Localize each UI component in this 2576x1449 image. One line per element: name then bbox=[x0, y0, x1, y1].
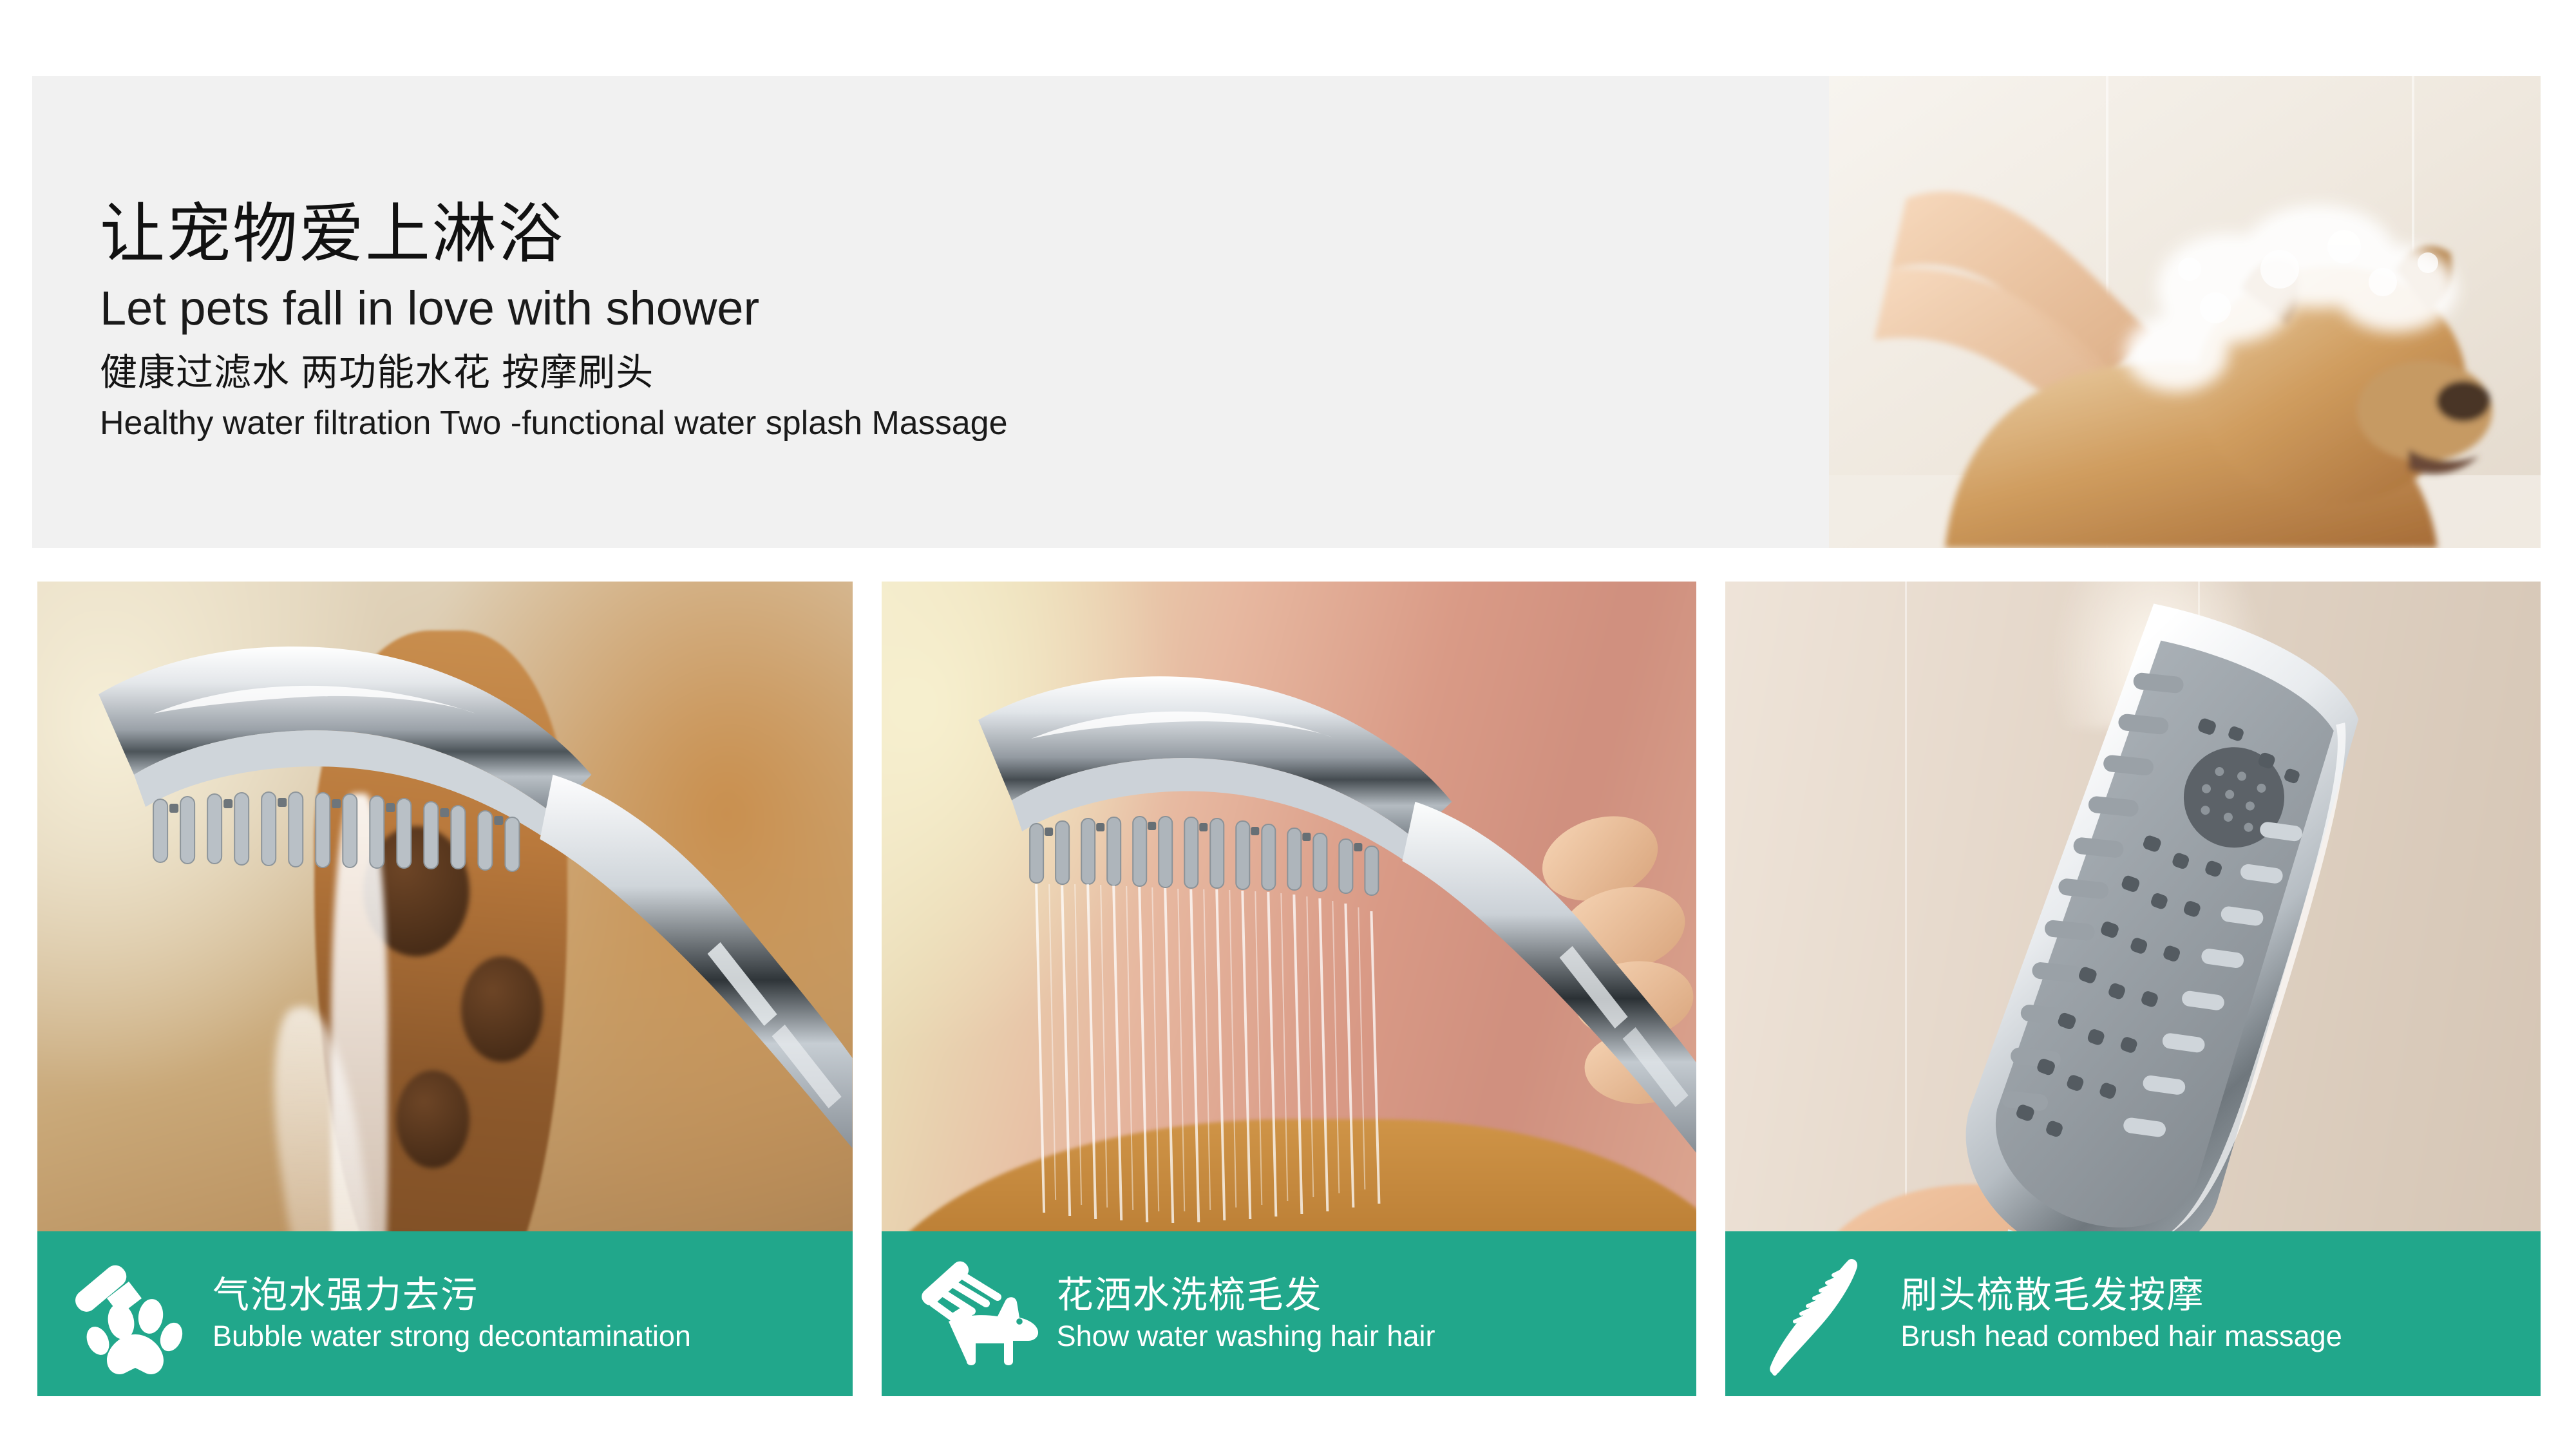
shower-wand-paw-glyph bbox=[68, 1249, 197, 1378]
header-text-block: 让宠物爱上淋浴 Let pets fall in love with showe… bbox=[100, 198, 1356, 443]
panel-caption: 刷头梳散毛发按摩 Brush head combed hair massage bbox=[1725, 1231, 2541, 1396]
dog-spray-glyph bbox=[913, 1249, 1041, 1378]
caption-en: Show water washing hair hair bbox=[1057, 1320, 1435, 1352]
brush-comb-glyph bbox=[1756, 1249, 1885, 1378]
caption-text-block: 刷头梳散毛发按摩 Brush head combed hair massage bbox=[1900, 1273, 2342, 1354]
caption-text-block: 花洒水洗梳毛发 Show water washing hair hair bbox=[1057, 1273, 1435, 1354]
panel-caption: 气泡水强力去污 Bubble water strong decontaminat… bbox=[37, 1231, 853, 1396]
feature-panel[interactable]: 花洒水洗梳毛发 Show water washing hair hair bbox=[882, 582, 1697, 1396]
feature-panel[interactable]: 气泡水强力去污 Bubble water strong decontaminat… bbox=[37, 582, 853, 1396]
header-banner: 让宠物爱上淋浴 Let pets fall in love with showe… bbox=[32, 76, 2541, 548]
page-subtitle-en: Healthy water filtration Two -functional… bbox=[100, 403, 1356, 443]
header-dog-bath-photo bbox=[1829, 76, 2541, 548]
panel-caption: 花洒水洗梳毛发 Show water washing hair hair bbox=[882, 1231, 1697, 1396]
page-title-cn: 让宠物爱上淋浴 bbox=[100, 198, 1356, 271]
caption-cn: 花洒水洗梳毛发 bbox=[1057, 1274, 1323, 1316]
feature-panel[interactable]: 刷头梳散毛发按摩 Brush head combed hair massage bbox=[1725, 582, 2541, 1396]
page-title-en: Let pets fall in love with shower bbox=[100, 280, 1356, 336]
shower-wand-paw-icon bbox=[68, 1249, 197, 1378]
brush-comb-icon bbox=[1756, 1249, 1885, 1378]
page-subtitle-cn: 健康过滤水 两功能水花 按摩刷头 bbox=[100, 350, 1356, 395]
caption-cn: 气泡水强力去污 bbox=[213, 1274, 478, 1316]
feature-panel-row: 气泡水强力去污 Bubble water strong decontaminat… bbox=[37, 582, 2541, 1396]
caption-en: Bubble water strong decontamination bbox=[213, 1320, 691, 1352]
caption-text-block: 气泡水强力去污 Bubble water strong decontaminat… bbox=[213, 1273, 691, 1354]
dog-with-shower-spray-icon bbox=[913, 1249, 1041, 1378]
caption-cn: 刷头梳散毛发按摩 bbox=[1900, 1274, 2204, 1316]
header-photo-artwork bbox=[1829, 76, 2541, 548]
caption-en: Brush head combed hair massage bbox=[1900, 1320, 2342, 1352]
